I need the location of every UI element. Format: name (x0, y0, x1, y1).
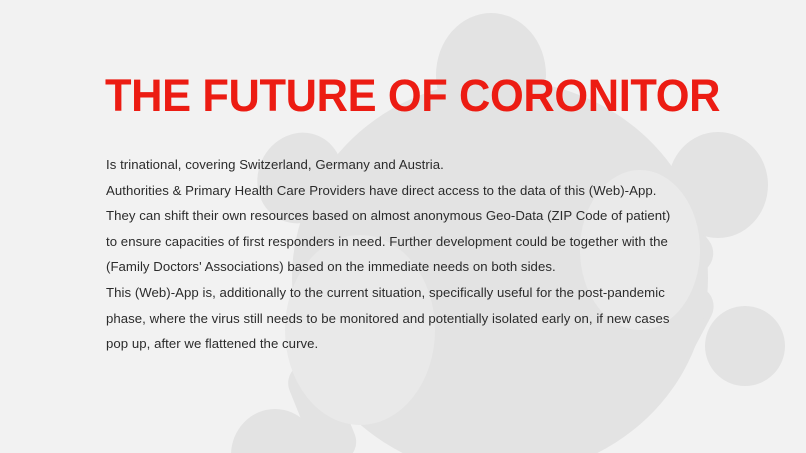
presentation-slide: THE FUTURE OF CORONITOR Is trinational, … (0, 0, 806, 453)
virus-spike-bottom-left (231, 356, 362, 453)
paragraph-2: Authorities & Primary Health Care Provid… (106, 178, 706, 280)
paragraph-1: Is trinational, covering Switzerland, Ge… (106, 152, 706, 178)
text-line: to ensure capacities of first responders… (106, 229, 706, 255)
slide-body-text: Is trinational, covering Switzerland, Ge… (106, 152, 706, 357)
text-line: pop up, after we flattened the curve. (106, 331, 706, 357)
text-line: Authorities & Primary Health Care Provid… (106, 178, 706, 204)
text-line: This (Web)-App is, additionally to the c… (106, 280, 706, 306)
page-title: THE FUTURE OF CORONITOR (105, 72, 720, 120)
text-line: They can shift their own resources based… (106, 203, 706, 229)
text-line: (Family Doctors' Associations) based on … (106, 254, 706, 280)
text-line: Is trinational, covering Switzerland, Ge… (106, 152, 706, 178)
paragraph-3: This (Web)-App is, additionally to the c… (106, 280, 706, 357)
virus-spike-bottom-center (457, 380, 553, 453)
text-line: phase, where the virus still needs to be… (106, 306, 706, 332)
